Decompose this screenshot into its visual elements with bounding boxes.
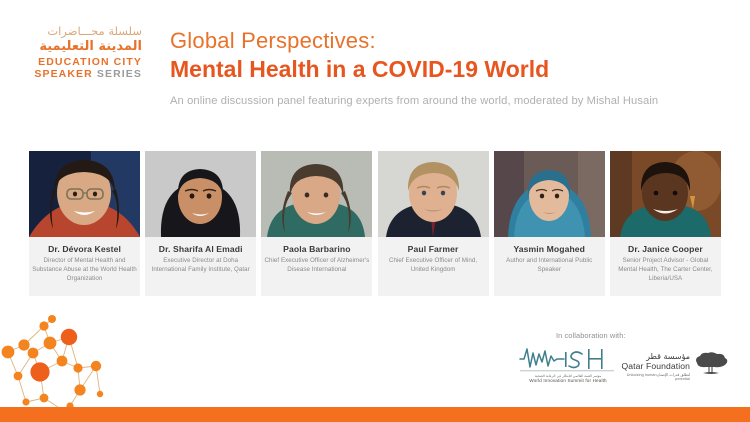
brand-education-city: EDUCATION CITY bbox=[22, 57, 142, 68]
speaker-name: Yasmin Mogahed bbox=[497, 244, 602, 254]
speaker-card: Paul Farmer Chief Executive Officer of M… bbox=[378, 151, 489, 296]
brand-speaker-word: SPEAKER bbox=[34, 68, 92, 80]
poster-canvas: سلسلة محـــاضرات المدينة التعليمية EDUCA… bbox=[0, 0, 750, 422]
speaker-meta: Paola Barbarino Chief Executive Officer … bbox=[261, 237, 372, 296]
speaker-role: Executive Director at Doha International… bbox=[148, 257, 253, 275]
title-line-2: Mental Health in a COVID-19 World bbox=[170, 55, 730, 84]
speaker-name: Dr. Dévora Kestel bbox=[32, 244, 137, 254]
speaker-meta: Dr. Sharifa Al Emadi Executive Director … bbox=[145, 237, 256, 296]
education-city-speaker-series-logo: سلسلة محـــاضرات المدينة التعليمية EDUCA… bbox=[22, 26, 142, 80]
speaker-meta: Dr. Dévora Kestel Director of Mental Hea… bbox=[29, 237, 140, 296]
collaboration-label: In collaboration with: bbox=[556, 331, 626, 340]
speaker-role: Director of Mental Health and Substance … bbox=[32, 257, 137, 284]
wish-wordmark-icon bbox=[518, 345, 618, 373]
brand-series-word: SERIES bbox=[97, 68, 142, 80]
speaker-photo bbox=[29, 151, 140, 237]
speaker-grid: Dr. Dévora Kestel Director of Mental Hea… bbox=[29, 151, 721, 296]
bottom-accent-bar bbox=[0, 407, 750, 422]
title-line-1: Global Perspectives: bbox=[170, 28, 730, 53]
speaker-photo bbox=[610, 151, 721, 237]
qatar-foundation-arabic: مؤسسة قطر bbox=[618, 353, 690, 361]
brand-arabic-line-2: المدينة التعليمية bbox=[22, 40, 142, 53]
speaker-card: Paola Barbarino Chief Executive Officer … bbox=[261, 151, 372, 296]
qatar-foundation-logo: مؤسسة قطر Qatar Foundation لتطلق قدرات ا… bbox=[618, 352, 730, 381]
speaker-photo bbox=[494, 151, 605, 237]
network-decoration-graphic bbox=[0, 306, 170, 408]
qatar-foundation-tree-icon bbox=[692, 352, 730, 378]
brand-speaker-series: SPEAKER SERIES bbox=[22, 69, 142, 80]
qatar-foundation-english: Qatar Foundation bbox=[618, 362, 690, 371]
speaker-card: Yasmin Mogahed Author and International … bbox=[494, 151, 605, 296]
speaker-role: Senior Project Advisor - Global Mental H… bbox=[613, 257, 718, 284]
speaker-name: Dr. Sharifa Al Emadi bbox=[148, 244, 253, 254]
wish-logo: مؤتمر القمة العالمي للابتكار في الرعاية … bbox=[518, 345, 618, 383]
title-block: Global Perspectives: Mental Health in a … bbox=[170, 28, 730, 107]
speaker-name: Paola Barbarino bbox=[264, 244, 369, 254]
speaker-name: Paul Farmer bbox=[381, 244, 486, 254]
speaker-meta: Paul Farmer Chief Executive Officer of M… bbox=[378, 237, 489, 296]
speaker-name: Dr. Janice Cooper bbox=[613, 244, 718, 254]
qatar-foundation-tagline: لتطلق قدرات الإنسان Unlocking human pote… bbox=[618, 373, 690, 381]
speaker-photo bbox=[261, 151, 372, 237]
qatar-foundation-text: مؤسسة قطر Qatar Foundation لتطلق قدرات ا… bbox=[618, 352, 690, 381]
speaker-card: Dr. Sharifa Al Emadi Executive Director … bbox=[145, 151, 256, 296]
speaker-meta: Dr. Janice Cooper Senior Project Advisor… bbox=[610, 237, 721, 296]
speaker-card: Dr. Janice Cooper Senior Project Advisor… bbox=[610, 151, 721, 296]
speaker-role: Chief Executive Officer of Mind, United … bbox=[381, 257, 486, 275]
brand-arabic-line-1: سلسلة محـــاضرات bbox=[22, 26, 142, 38]
speaker-card: Dr. Dévora Kestel Director of Mental Hea… bbox=[29, 151, 140, 296]
subtitle: An online discussion panel featuring exp… bbox=[170, 95, 730, 107]
wish-english-subtitle: World Innovation Summit for Health bbox=[518, 378, 618, 383]
speaker-role: Chief Executive Officer of Alzheimer's D… bbox=[264, 257, 369, 275]
speaker-meta: Yasmin Mogahed Author and International … bbox=[494, 237, 605, 296]
speaker-role: Author and International Public Speaker bbox=[497, 257, 602, 275]
speaker-photo bbox=[145, 151, 256, 237]
speaker-photo bbox=[378, 151, 489, 237]
